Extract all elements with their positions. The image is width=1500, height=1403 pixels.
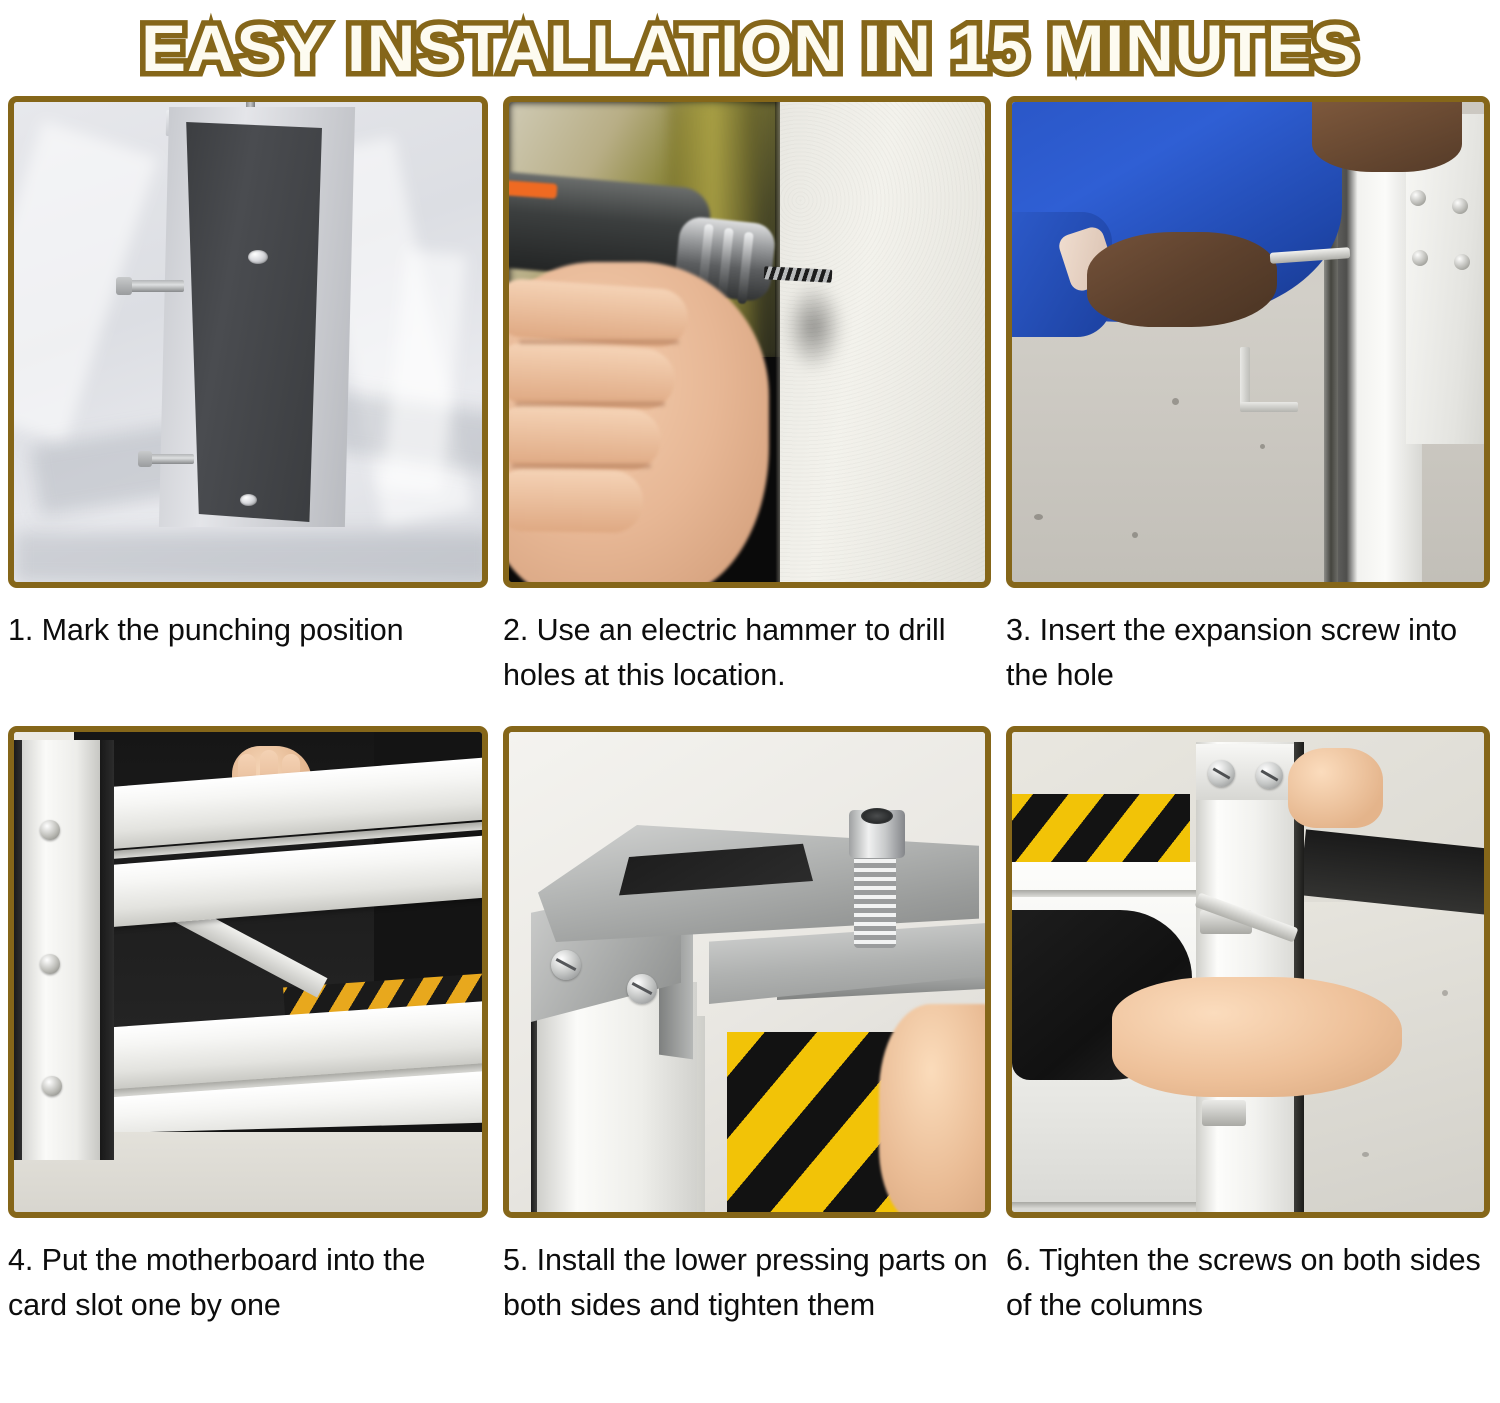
expansion-screw-image bbox=[1012, 102, 1484, 582]
header-banner: EASY INSTALLATION IN 15 MINUTES bbox=[0, 0, 1500, 96]
mounting-plate-photo bbox=[8, 96, 488, 588]
mounting-plate-image bbox=[14, 102, 482, 582]
insert-boards-photo bbox=[8, 726, 488, 1218]
step-6-caption: 6. Tighten the screws on both sides of t… bbox=[1006, 1238, 1490, 1328]
installation-steps-grid: 1. Mark the punching position bbox=[0, 96, 1500, 1328]
step-4-caption: 4. Put the motherboard into the card slo… bbox=[8, 1238, 488, 1328]
drilling-wall-image bbox=[509, 102, 985, 582]
step-6: 6. Tighten the screws on both sides of t… bbox=[1000, 726, 1500, 1328]
pressing-part-image bbox=[509, 732, 985, 1212]
step-2: 2. Use an electric hammer to drill holes… bbox=[497, 96, 1000, 726]
step-2-caption: 2. Use an electric hammer to drill holes… bbox=[503, 608, 991, 726]
expansion-screw-photo bbox=[1006, 96, 1490, 588]
step-4: 4. Put the motherboard into the card slo… bbox=[0, 726, 497, 1328]
page-title: EASY INSTALLATION IN 15 MINUTES bbox=[141, 15, 1358, 81]
insert-boards-image bbox=[14, 732, 482, 1212]
drilling-wall-photo bbox=[503, 96, 991, 588]
tighten-screws-image bbox=[1012, 732, 1484, 1212]
step-3-caption: 3. Insert the expansion screw into the h… bbox=[1006, 608, 1490, 726]
step-1-caption: 1. Mark the punching position bbox=[8, 608, 488, 726]
step-5: 5. Install the lower pressing parts on b… bbox=[497, 726, 1000, 1328]
step-1: 1. Mark the punching position bbox=[0, 96, 497, 726]
step-5-caption: 5. Install the lower pressing parts on b… bbox=[503, 1238, 991, 1328]
tighten-screws-photo bbox=[1006, 726, 1490, 1218]
pressing-part-photo bbox=[503, 726, 991, 1218]
step-3: 3. Insert the expansion screw into the h… bbox=[1000, 96, 1500, 726]
